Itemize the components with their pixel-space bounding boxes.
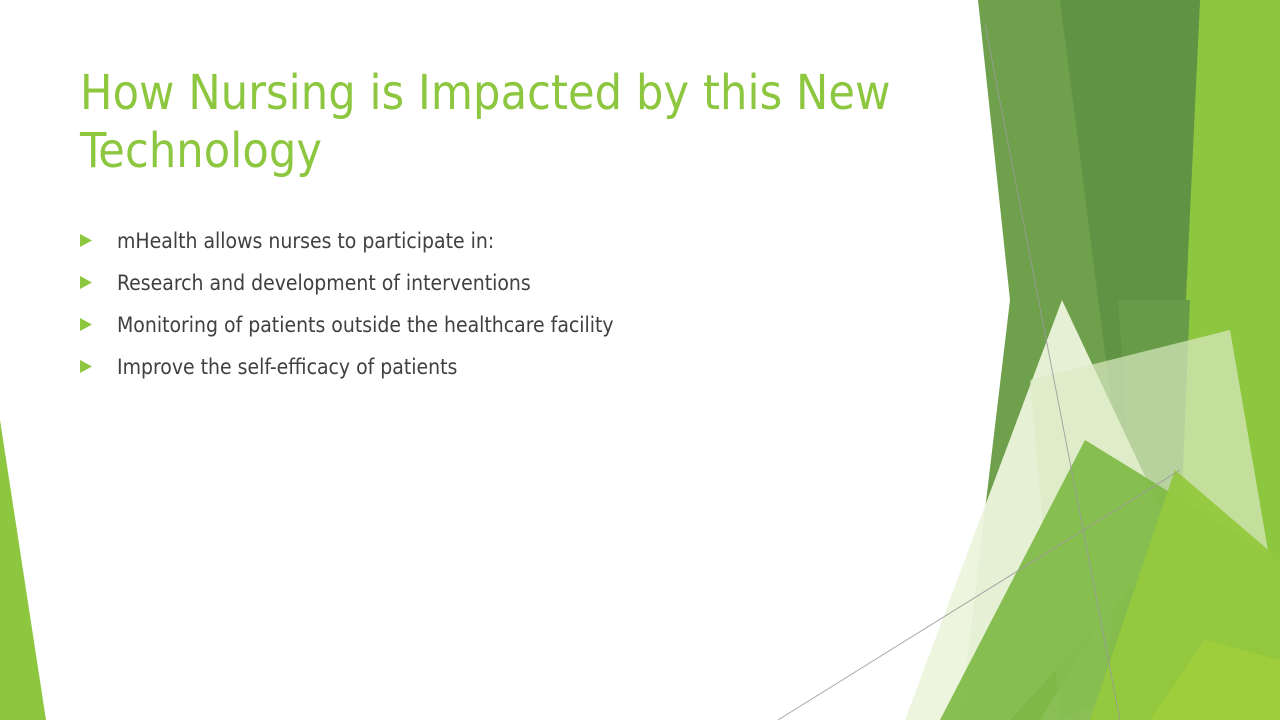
lower-green-band-shape <box>940 440 1280 720</box>
triangle-right-icon <box>80 360 92 373</box>
list-item-label: Improve the self-efficacy of patients <box>117 354 457 380</box>
list-item: Research and development of intervention… <box>80 270 880 312</box>
title-block: How Nursing is Impacted by this New Tech… <box>80 64 910 180</box>
dark-green-upper-shape <box>960 0 1200 720</box>
deep-green-facet-shape <box>1060 0 1200 470</box>
list-item-label: mHealth allows nurses to participate in: <box>117 228 494 254</box>
triangle-right-icon <box>80 318 92 331</box>
triangle-right-icon <box>80 276 92 289</box>
hairline-steep <box>985 24 1120 720</box>
page-title: How Nursing is Impacted by this New Tech… <box>80 64 910 180</box>
right-bright-green-shape <box>1100 0 1280 720</box>
bullet-list: mHealth allows nurses to participate in:… <box>80 228 880 396</box>
list-item-label: Monitoring of patients outside the healt… <box>117 312 614 338</box>
hairline-shallow <box>778 470 1180 720</box>
triangle-right-icon <box>80 234 92 247</box>
pale-sail-shape <box>905 300 1175 720</box>
olive-column-shape <box>1118 300 1190 540</box>
pale-overlay-shape <box>1030 330 1280 720</box>
list-item: mHealth allows nurses to participate in: <box>80 228 880 270</box>
list-item: Improve the self-efficacy of patients <box>80 354 880 396</box>
presentation-slide: How Nursing is Impacted by this New Tech… <box>0 0 1280 720</box>
bottom-sliver-shape <box>1150 640 1280 720</box>
list-item: Monitoring of patients outside the healt… <box>80 312 880 354</box>
list-item-label: Research and development of intervention… <box>117 270 531 296</box>
lower-bright-facet-shape <box>1090 470 1280 720</box>
corner-wedge-shape <box>0 420 46 720</box>
